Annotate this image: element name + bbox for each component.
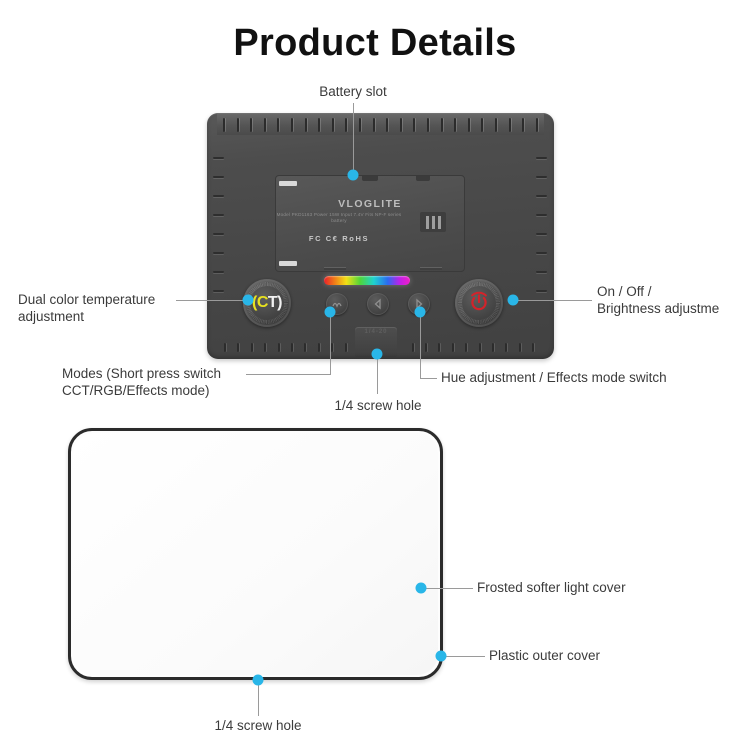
vent-slot (213, 157, 224, 159)
vent-slot (536, 118, 538, 132)
vent-slot (373, 118, 375, 132)
hue-down-icon (367, 293, 389, 315)
callout-label-hue-effects: Hue adjustment / Effects mode switch (441, 370, 741, 387)
callout-label-battery-slot: Battery slot (283, 84, 423, 101)
battery-contacts (420, 212, 446, 232)
hue-down-button[interactable] (367, 293, 389, 315)
vent-slot (331, 343, 333, 352)
callout-dot-frosted-cover (416, 583, 427, 594)
ct-icon-right: T) (268, 294, 282, 311)
battery-latch-notch-secondary (416, 176, 430, 181)
vent-slot (345, 343, 347, 352)
vent-slot (536, 271, 547, 273)
vent-slot (536, 233, 547, 235)
vent-slot (413, 118, 415, 132)
battery-latch-notch (362, 176, 378, 181)
vent-slot (536, 195, 547, 197)
vent-slot (345, 118, 347, 132)
callout-dot-hue-effects (415, 307, 426, 318)
vent-slot (224, 343, 226, 352)
left-vent-strip (211, 151, 227, 301)
ct-icon-left: (C (252, 294, 268, 311)
vent-slot (532, 343, 534, 352)
leader-frosted-cover (423, 588, 473, 589)
panel-inner-surface (73, 433, 438, 675)
vent-slot (264, 118, 266, 132)
vent-slot (386, 118, 388, 132)
callout-dot-screw-hole-bottom (253, 675, 264, 686)
vent-slot (438, 343, 440, 352)
vent-slot (452, 343, 454, 352)
vent-slot (492, 343, 494, 352)
vent-slot (264, 343, 266, 352)
vent-slot (213, 233, 224, 235)
vent-slot (536, 290, 547, 292)
leader-plastic-cover (443, 656, 485, 657)
vent-slot (465, 343, 467, 352)
vent-slot (291, 343, 293, 352)
vent-slot (522, 118, 524, 132)
leader-hue-effects-vertical (420, 312, 421, 378)
vent-slot (250, 118, 252, 132)
battery-rail-top (279, 181, 297, 186)
vent-slot (213, 252, 224, 254)
vent-slot (400, 118, 402, 132)
vent-slot (223, 118, 225, 132)
battery-foot-left (324, 267, 346, 270)
certification-label: FC C€ RoHS (276, 234, 402, 243)
leader-hue-effects-horizontal (420, 378, 437, 379)
vent-slot (213, 271, 224, 273)
vent-slot (468, 118, 470, 132)
vent-slot (536, 176, 547, 178)
vent-slot (481, 118, 483, 132)
vent-slot (332, 118, 334, 132)
callout-dot-screw-hole-top (372, 349, 383, 360)
vent-slot (536, 214, 547, 216)
callout-label-modes: Modes (Short press switch CCT/RGB/Effect… (62, 366, 262, 399)
callout-dot-power-brightness (508, 295, 519, 306)
leader-modes-vertical (330, 312, 331, 374)
leader-battery-slot (353, 103, 354, 173)
callout-label-screw-hole-bottom: 1/4 screw hole (202, 718, 314, 735)
vent-slot (318, 118, 320, 132)
vent-slot (251, 343, 253, 352)
ct-icon: (CT) (252, 295, 282, 311)
vent-slot (425, 343, 427, 352)
vent-slot (505, 343, 507, 352)
vent-slot (454, 118, 456, 132)
callout-dot-color-temperature (243, 295, 254, 306)
vent-slot (427, 118, 429, 132)
spec-label: Model PKD1163 Power 15W Input 7.4V Fits … (276, 212, 402, 224)
callout-label-color-temperature: Dual color temperature adjustment (18, 292, 178, 325)
callout-label-frosted-cover: Frosted softer light cover (477, 580, 707, 597)
screw-mount-text: 1/4-20 (355, 329, 397, 335)
vent-slot (213, 195, 224, 197)
top-vent-strip (217, 113, 544, 135)
power-brightness-knob[interactable] (455, 279, 503, 327)
leader-color-temperature (176, 300, 246, 301)
callout-dot-battery-slot (348, 170, 359, 181)
vent-slot (479, 343, 481, 352)
vent-slot (213, 290, 224, 292)
vent-slot (536, 157, 547, 159)
rgb-indicator-strip (324, 276, 410, 285)
callout-dot-plastic-cover (436, 651, 447, 662)
frosted-diffuser-panel (68, 428, 443, 680)
leader-screw-hole-top (377, 354, 378, 394)
led-light-rear-body: VLOGLITE Model PKD1163 Power 15W Input 7… (207, 113, 554, 359)
battery-rail-bottom (279, 261, 297, 266)
product-details-infographic: Product Details VLOGLITE Model PKD1163 P… (0, 0, 750, 750)
vent-slot (237, 118, 239, 132)
vent-slot (318, 343, 320, 352)
callout-label-plastic-cover: Plastic outer cover (489, 648, 709, 665)
right-vent-strip (534, 151, 550, 301)
vent-slot (412, 343, 414, 352)
vent-slot (304, 343, 306, 352)
brand-label: VLOGLITE (276, 198, 464, 210)
vent-slot (237, 343, 239, 352)
vent-slot (291, 118, 293, 132)
callout-dot-modes (325, 307, 336, 318)
vent-slot (277, 118, 279, 132)
callout-label-power-brightness: On / Off / Brightness adjustme (597, 284, 750, 317)
vent-slot (359, 118, 361, 132)
vent-slot (519, 343, 521, 352)
callout-label-screw-hole-top: 1/4 screw hole (322, 398, 434, 415)
vent-slot (536, 252, 547, 254)
battery-slot-plate: VLOGLITE Model PKD1163 Power 15W Input 7… (275, 175, 465, 272)
vent-slot (213, 214, 224, 216)
battery-foot-right (420, 267, 442, 270)
page-title: Product Details (0, 22, 750, 65)
vent-slot (213, 176, 224, 178)
vent-slot (441, 118, 443, 132)
power-icon (467, 291, 491, 315)
vent-slot (278, 343, 280, 352)
vent-slot (495, 118, 497, 132)
vent-slot (305, 118, 307, 132)
leader-power-brightness (515, 300, 592, 301)
vent-slot (509, 118, 511, 132)
